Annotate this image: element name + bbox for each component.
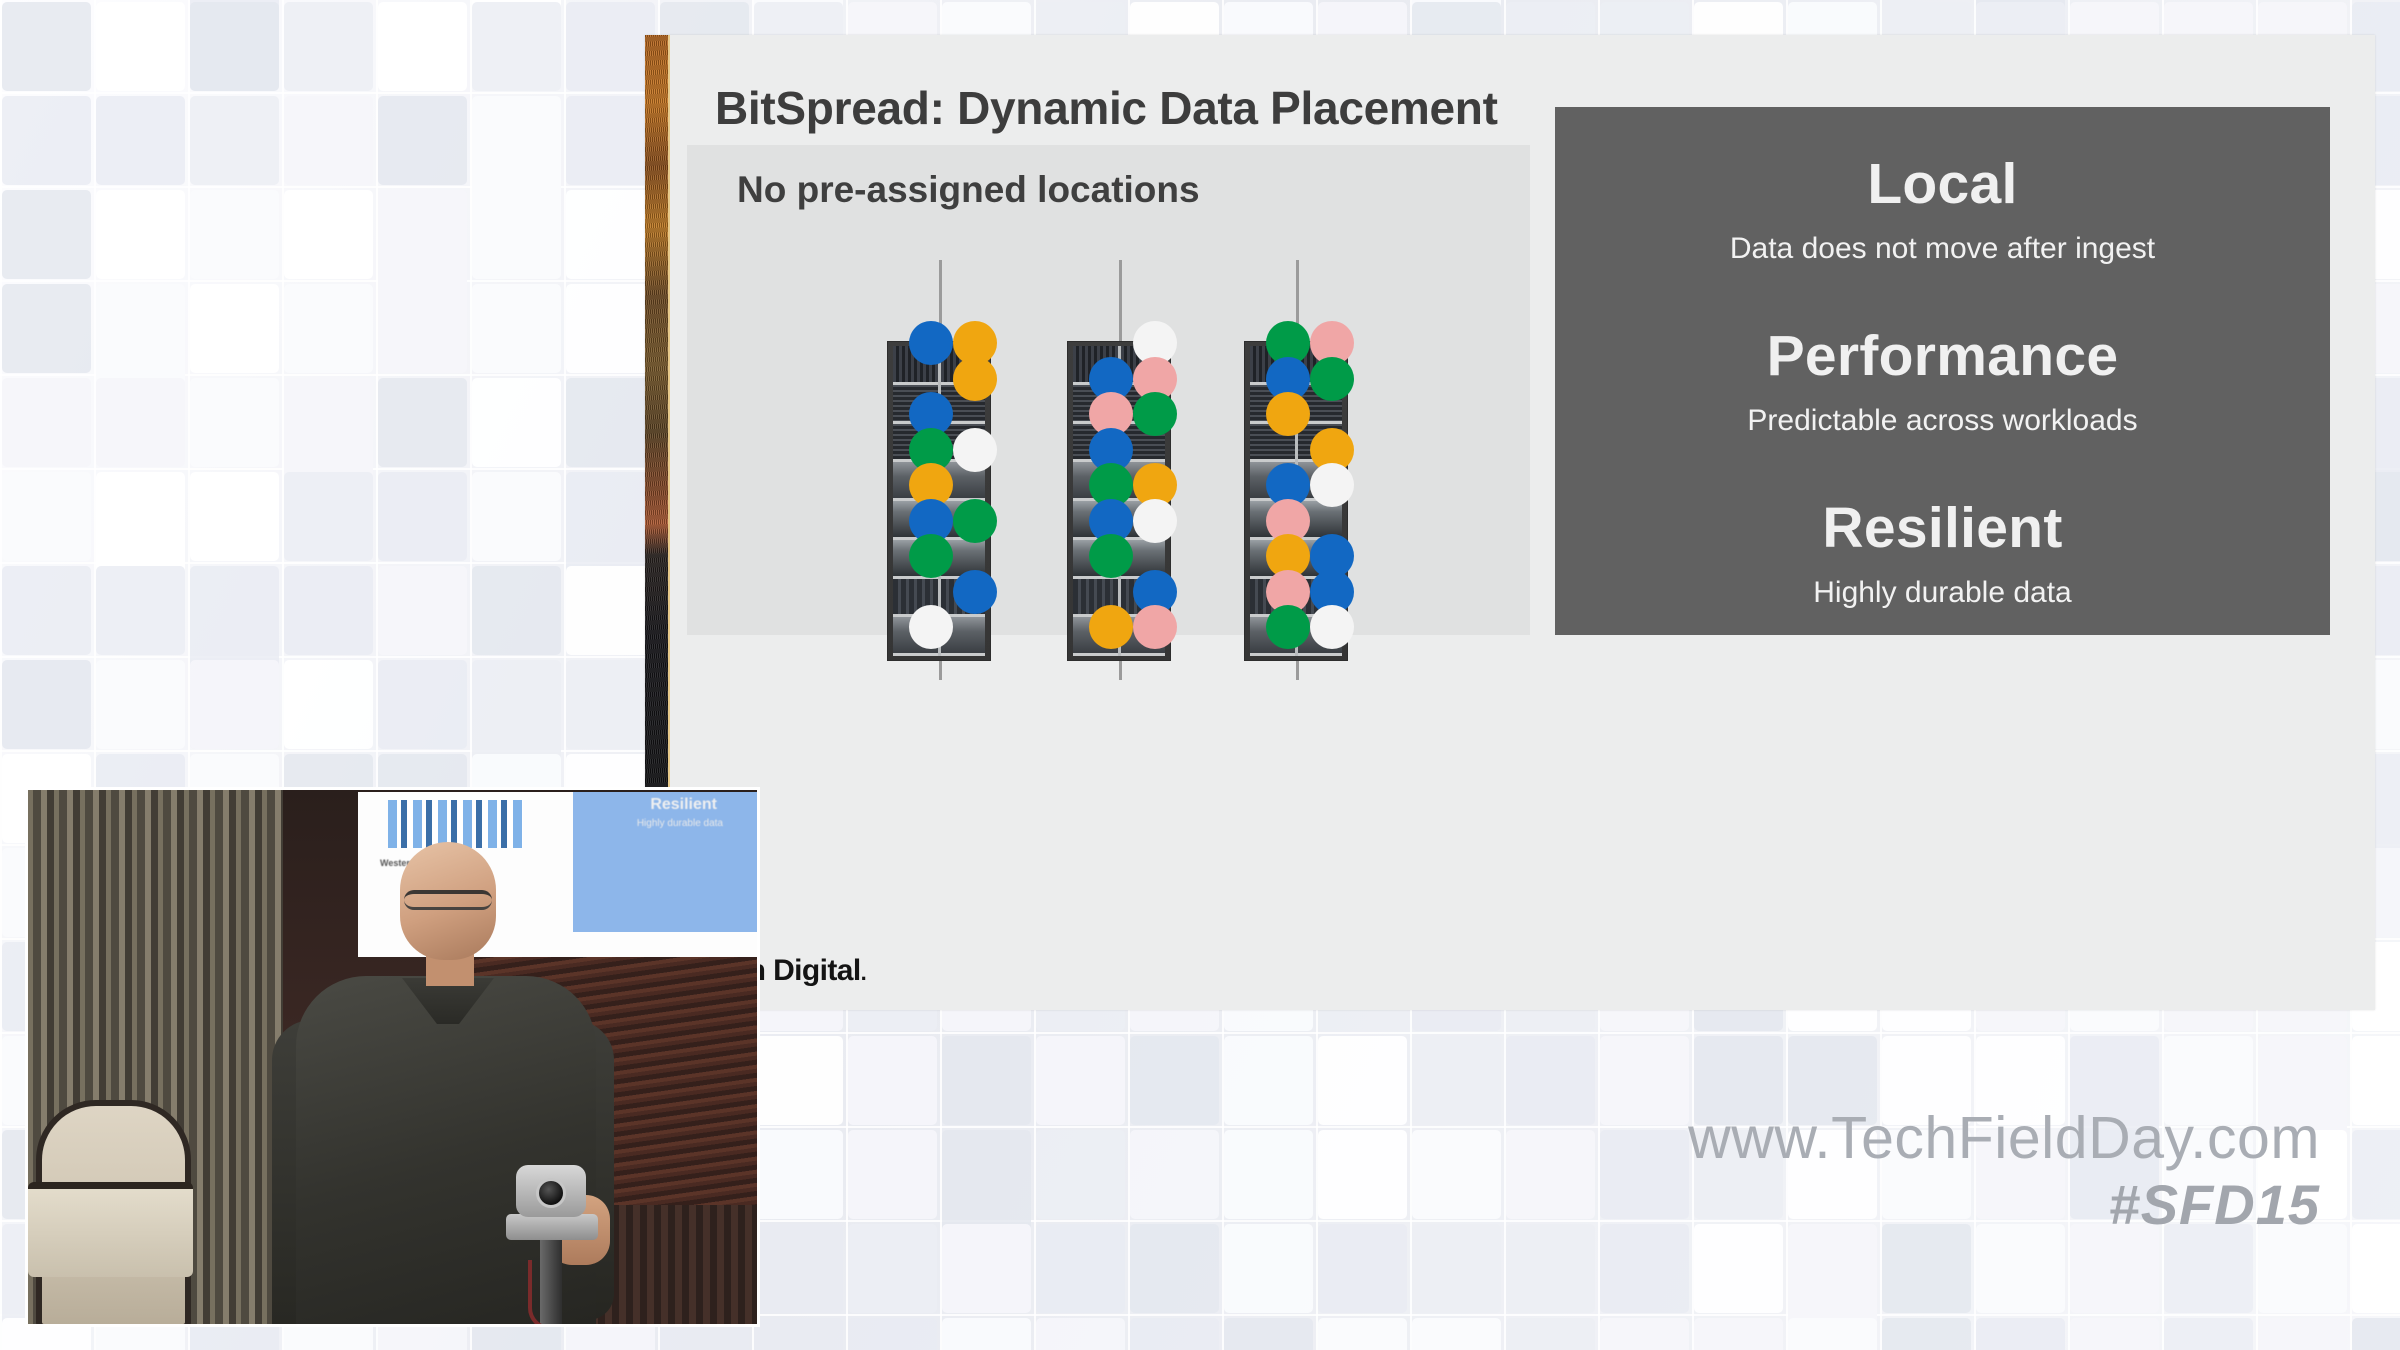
mosaic-tile	[284, 660, 373, 749]
mosaic-tile	[566, 96, 655, 185]
mosaic-tile	[1036, 1036, 1125, 1125]
mosaic-tile	[378, 96, 467, 185]
mosaic-tile	[848, 1224, 937, 1313]
mosaic-tile	[472, 2, 561, 91]
data-object-dot-green	[1133, 392, 1177, 436]
mosaic-tile	[378, 660, 467, 749]
mosaic-tile	[1130, 1224, 1219, 1313]
mosaic-tile	[1412, 1318, 1501, 1350]
mosaic-tile	[1130, 1130, 1219, 1219]
mosaic-tile	[1224, 1130, 1313, 1219]
watermark-url: www.TechFieldDay.com	[1688, 1108, 2320, 1170]
mosaic-tile	[378, 378, 467, 467]
mosaic-tile	[1600, 1130, 1689, 1219]
mosaic-tile	[1694, 1318, 1783, 1350]
mosaic-tile	[284, 190, 373, 279]
mosaic-tile	[1318, 1318, 1407, 1350]
data-object-dot-green	[1310, 357, 1354, 401]
mosaic-tile	[2258, 1318, 2347, 1350]
mosaic-tile	[190, 660, 279, 749]
logo-mark: .	[861, 960, 867, 985]
mosaic-tile	[2, 378, 91, 467]
mosaic-tile	[2, 472, 91, 561]
feature-subtitle: Data does not move after ingest	[1555, 233, 2330, 265]
mosaic-tile	[754, 1130, 843, 1219]
mosaic-tile	[96, 660, 185, 749]
mosaic-tile	[2352, 1224, 2400, 1313]
feature-block-resilient: ResilientHighly durable data	[1555, 499, 2330, 608]
mosaic-tile	[1976, 1318, 2065, 1350]
camera-base	[506, 1214, 598, 1240]
mosaic-tile	[1506, 1224, 1595, 1313]
mosaic-tile	[378, 472, 467, 561]
camera-lens-icon	[536, 1178, 566, 1208]
mosaic-tile	[1130, 1036, 1219, 1125]
mosaic-tile	[566, 566, 655, 655]
mosaic-tile	[96, 2, 185, 91]
mosaic-tile	[1318, 1224, 1407, 1313]
presenter-video-overlay[interactable]: Resilient Highly durable data Western Di…	[25, 787, 760, 1327]
mosaic-tile	[190, 190, 279, 279]
feature-block-local: LocalData does not move after ingest	[1555, 155, 2330, 264]
data-object-dot-white	[1133, 499, 1177, 543]
data-object-dot-orange	[1266, 392, 1310, 436]
mosaic-tile	[1224, 1224, 1313, 1313]
mosaic-tile	[1318, 1130, 1407, 1219]
mosaic-tile	[1224, 1036, 1313, 1125]
mosaic-tile	[942, 1224, 1031, 1313]
mosaic-tile	[942, 1036, 1031, 1125]
mosaic-tile	[472, 378, 561, 467]
mosaic-tile	[96, 378, 185, 467]
mosaic-tile	[1506, 1036, 1595, 1125]
video-artifact-strip	[645, 35, 670, 800]
projected-slide-subtitle: Highly durable data	[637, 818, 723, 829]
mosaic-tile	[1882, 1318, 1971, 1350]
mosaic-tile	[1600, 1036, 1689, 1125]
mosaic-tile	[2, 660, 91, 749]
mosaic-tile	[942, 1318, 1031, 1350]
left-panel: No pre-assigned locations	[687, 145, 1530, 635]
mosaic-tile	[566, 284, 655, 373]
mosaic-tile	[2, 284, 91, 373]
mosaic-tile	[2164, 1318, 2253, 1350]
rack-diagram	[687, 145, 1530, 635]
data-object-dot-green	[909, 534, 953, 578]
mosaic-tile	[566, 660, 655, 749]
mosaic-tile	[1788, 1318, 1877, 1350]
mosaic-tile	[754, 1318, 843, 1350]
mosaic-tile	[1224, 1318, 1313, 1350]
mosaic-tile	[472, 472, 561, 561]
mosaic-tile	[284, 2, 373, 91]
feature-block-performance: PerformancePredictable across workloads	[1555, 327, 2330, 436]
data-object-dot-green	[1089, 534, 1133, 578]
data-object-dot-white	[953, 428, 997, 472]
mosaic-tile	[1506, 1130, 1595, 1219]
feature-title: Local	[1555, 155, 2330, 215]
glasses-icon	[404, 890, 492, 910]
chair-seat	[28, 1182, 193, 1277]
mosaic-tile	[284, 566, 373, 655]
mosaic-tile	[378, 284, 467, 373]
feature-title: Resilient	[1555, 499, 2330, 559]
mosaic-tile	[190, 472, 279, 561]
mosaic-tile	[378, 2, 467, 91]
mosaic-tile	[2, 566, 91, 655]
watermark: www.TechFieldDay.com #SFD15	[1688, 1108, 2320, 1240]
mosaic-tile	[472, 190, 561, 279]
mosaic-tile	[2, 2, 91, 91]
feature-subtitle: Predictable across workloads	[1555, 405, 2330, 437]
mosaic-tile	[2352, 1318, 2400, 1350]
mosaic-tile	[378, 566, 467, 655]
projected-rack-diagram	[388, 800, 523, 848]
data-object-dot-blue	[953, 570, 997, 614]
mosaic-tile	[566, 378, 655, 467]
mosaic-tile	[1036, 1318, 1125, 1350]
mosaic-tile	[472, 284, 561, 373]
slide-title: BitSpread: Dynamic Data Placement	[715, 81, 1498, 135]
mosaic-tile	[284, 472, 373, 561]
feature-title: Performance	[1555, 327, 2330, 387]
mosaic-tile	[566, 190, 655, 279]
screen-capture: www.TechFieldDay.com #SFD15 BitSpread: D…	[0, 0, 2400, 1350]
mosaic-tile	[2070, 1318, 2159, 1350]
presentation-slide: BitSpread: Dynamic Data Placement No pre…	[645, 35, 2375, 1010]
mosaic-tile	[1318, 1036, 1407, 1125]
mosaic-tile	[848, 1318, 937, 1350]
mosaic-tile	[96, 190, 185, 279]
mosaic-tile	[1412, 1036, 1501, 1125]
mosaic-tile	[190, 378, 279, 467]
mosaic-tile	[190, 284, 279, 373]
mosaic-tile	[284, 96, 373, 185]
mosaic-tile	[1506, 1318, 1595, 1350]
mosaic-tile	[848, 1036, 937, 1125]
mosaic-tile	[1130, 1318, 1219, 1350]
mosaic-tile	[284, 284, 373, 373]
mosaic-tile	[190, 96, 279, 185]
watermark-hashtag: #SFD15	[1688, 1170, 2320, 1240]
data-object-dot-white	[1310, 463, 1354, 507]
mosaic-tile	[848, 1130, 937, 1219]
mosaic-tile	[1036, 1224, 1125, 1313]
projected-slide-title: Resilient	[650, 796, 717, 814]
mosaic-tile	[2352, 1036, 2400, 1125]
mosaic-tile	[566, 2, 655, 91]
mosaic-tile	[1412, 1130, 1501, 1219]
mosaic-tile	[2352, 1130, 2400, 1219]
mosaic-tile	[1036, 1130, 1125, 1219]
right-panel: LocalData does not move after ingestPerf…	[1555, 107, 2330, 635]
mosaic-tile	[96, 566, 185, 655]
data-object-dot-blue	[909, 321, 953, 365]
mosaic-tile	[1600, 1318, 1689, 1350]
mosaic-tile	[1412, 1224, 1501, 1313]
mosaic-tile	[190, 2, 279, 91]
mosaic-tile	[754, 1224, 843, 1313]
camera-cable	[528, 1260, 588, 1327]
data-object-dot-green	[953, 499, 997, 543]
mosaic-tile	[2, 96, 91, 185]
mosaic-tile	[1600, 1224, 1689, 1313]
mosaic-tile	[472, 566, 561, 655]
mosaic-tile	[754, 1036, 843, 1125]
feature-subtitle: Highly durable data	[1555, 577, 2330, 609]
mosaic-tile	[96, 96, 185, 185]
data-object-dot-orange	[953, 357, 997, 401]
mosaic-tile	[2, 190, 91, 279]
